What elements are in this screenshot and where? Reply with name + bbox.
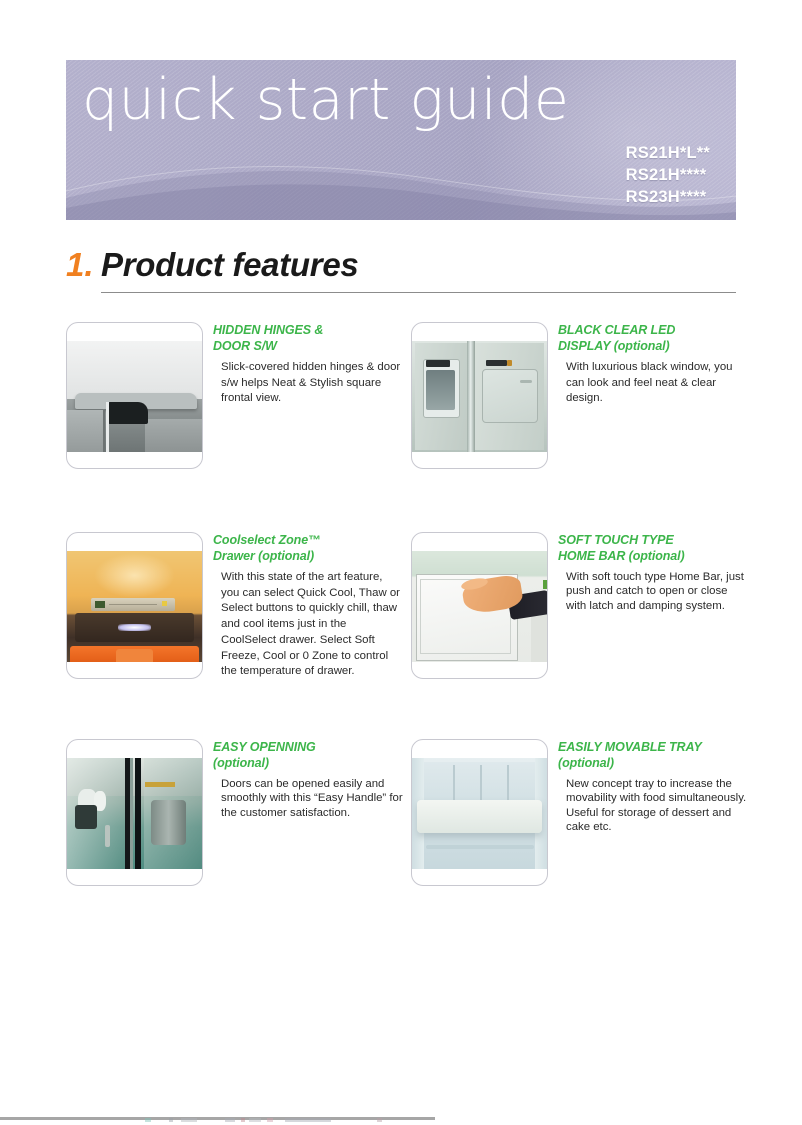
feature-body: New concept tray to increase the movabil… <box>566 777 756 835</box>
feature-heading: SOFT TOUCH TYPE HOME BAR (optional) <box>558 532 748 564</box>
feature-body: With luxurious black window, you can loo… <box>566 360 748 407</box>
section-heading: 1. Product features <box>66 248 736 296</box>
feature-heading: BLACK CLEAR LED DISPLAY (optional) <box>558 322 748 354</box>
section-number: 1. <box>66 248 94 281</box>
feature-body: With soft touch type Home Bar, just push… <box>566 570 748 613</box>
feature-text: SOFT TOUCH TYPE HOME BAR (optional) With… <box>558 532 748 613</box>
feature-heading-line: (optional) <box>558 755 756 771</box>
model-number: RS23H**** <box>626 187 710 209</box>
feature-text: Coolselect Zone™ Drawer (optional) With … <box>213 532 403 680</box>
feature-heading-line: BLACK CLEAR LED <box>558 322 748 338</box>
feature-text: EASY OPENNING (optional) Doors can be op… <box>213 739 403 820</box>
coolselect-zone-drawer-photo <box>66 532 203 679</box>
banner-model-list: RS21H*L** RS21H**** RS23H**** <box>626 143 710 208</box>
feature-heading: HIDDEN HINGES & DOOR S/W <box>213 322 403 354</box>
footer-cropped-text <box>145 1116 545 1122</box>
model-number: RS21H**** <box>626 165 710 187</box>
feature-heading-line: HIDDEN HINGES & <box>213 322 403 338</box>
feature-heading-line: EASY OPENNING <box>213 739 403 755</box>
feature-text: EASILY MOVABLE TRAY (optional) New conce… <box>558 739 756 835</box>
feature-heading: Coolselect Zone™ Drawer (optional) <box>213 532 403 564</box>
feature-heading-line: Coolselect Zone™ <box>213 532 403 548</box>
feature-heading-line: Drawer (optional) <box>213 548 403 564</box>
feature-text: BLACK CLEAR LED DISPLAY (optional) With … <box>558 322 748 407</box>
feature-heading: EASY OPENNING (optional) <box>213 739 403 771</box>
feature-body: Doors can be opened easily and smoothly … <box>221 777 403 820</box>
page-title: Product features <box>101 248 358 281</box>
feature-body: Slick-covered hidden hinges & door s/w h… <box>221 360 403 407</box>
feature-heading: EASILY MOVABLE TRAY (optional) <box>558 739 756 771</box>
hidden-hinges-photo <box>66 322 203 469</box>
feature-heading-line: (optional) <box>213 755 403 771</box>
feature-heading-line: DISPLAY (optional) <box>558 338 748 354</box>
feature-heading-line: SOFT TOUCH TYPE <box>558 532 748 548</box>
header-banner: quick start guide RS21H*L** RS21H**** RS… <box>66 60 736 220</box>
black-clear-led-display-photo <box>411 322 548 469</box>
easily-movable-tray-photo <box>411 739 548 886</box>
section-divider <box>101 292 736 293</box>
feature-heading-line: EASILY MOVABLE TRAY <box>558 739 756 755</box>
feature-text: HIDDEN HINGES & DOOR S/W Slick-covered h… <box>213 322 403 407</box>
model-number: RS21H*L** <box>626 143 710 165</box>
banner-title: quick start guide <box>82 72 569 129</box>
feature-heading-line: HOME BAR (optional) <box>558 548 748 564</box>
easy-openning-photo <box>66 739 203 886</box>
soft-touch-home-bar-photo <box>411 532 548 679</box>
feature-body: With this state of the art feature, you … <box>221 570 403 680</box>
feature-heading-line: DOOR S/W <box>213 338 403 354</box>
